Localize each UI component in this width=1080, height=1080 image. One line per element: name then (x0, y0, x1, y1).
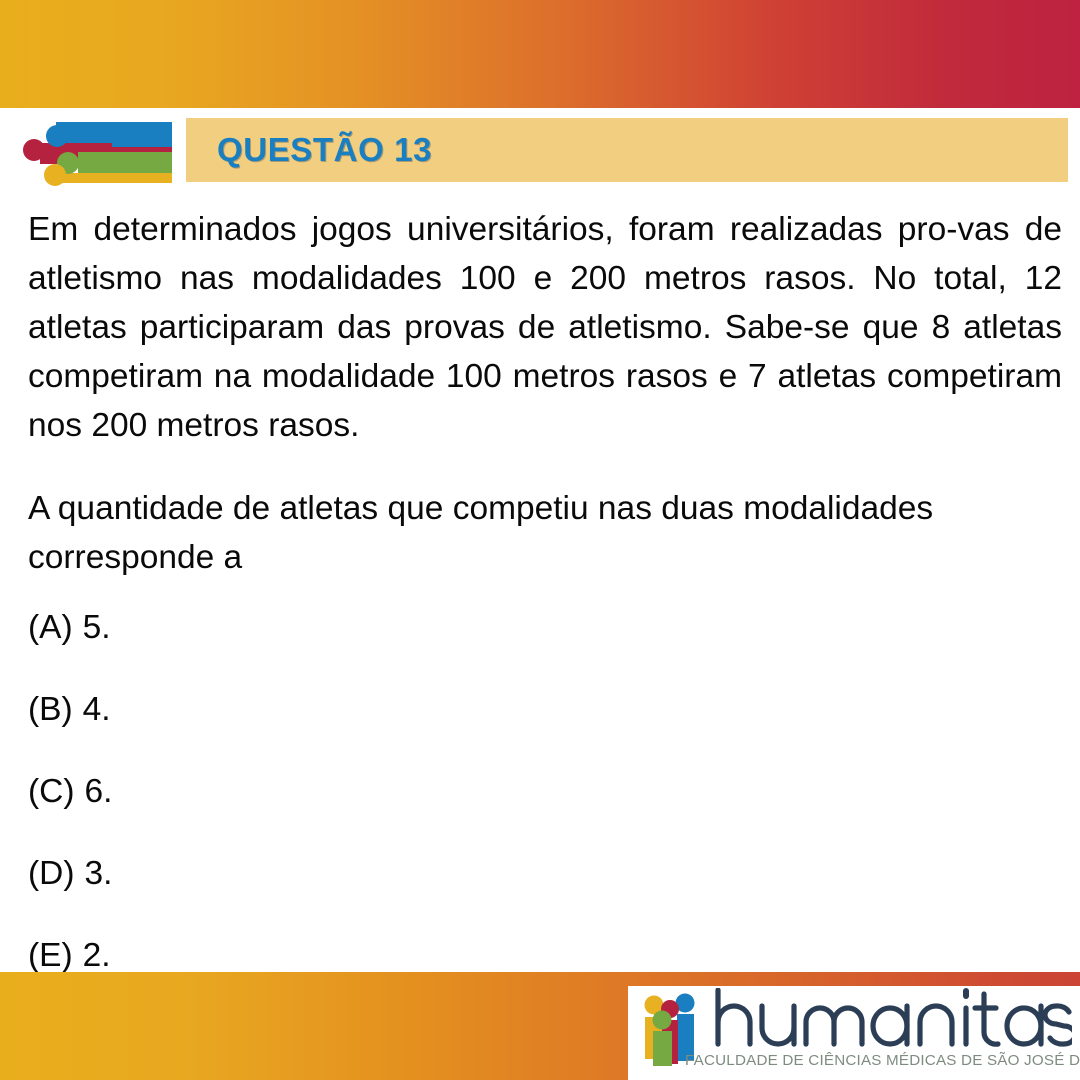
answer-option-e-letter: (E) (28, 937, 73, 974)
answer-option-d-value: 3. (85, 855, 113, 892)
answer-option-b-letter: (B) (28, 691, 73, 728)
answer-option-d-letter: (D) (28, 855, 75, 892)
answer-option-a-value: 5. (83, 609, 111, 646)
answer-option-c-letter: (C) (28, 773, 75, 810)
humanitas-tagline: FACULDADE DE CIÊNCIAS MÉDICAS DE SÃO JOS… (685, 1052, 1080, 1069)
answer-option-b[interactable]: (B)4. (28, 690, 1062, 730)
answer-option-b-value: 4. (83, 691, 111, 728)
answer-option-c[interactable]: (C)6. (28, 772, 1062, 812)
humanitas-wordmark (712, 988, 1072, 1050)
footer-logo-container: FACULDADE DE CIÊNCIAS MÉDICAS DE SÃO JOS… (628, 986, 1080, 1080)
header-gradient-band (0, 0, 1080, 108)
question-header: QUESTÃO 13 (0, 118, 1080, 186)
question-number-label: QUESTÃO 13 (217, 131, 432, 169)
footer-gradient-band: FACULDADE DE CIÊNCIAS MÉDICAS DE SÃO JOS… (0, 972, 1080, 1080)
answer-option-e[interactable]: (E)2. (28, 936, 1062, 976)
answer-option-e-value: 2. (83, 937, 111, 974)
question-banner: QUESTÃO 13 (186, 118, 1068, 182)
answer-option-d[interactable]: (D)3. (28, 854, 1062, 894)
answer-options-list: (A)5. (B)4. (C)6. (D)3. (E)2. (28, 608, 1062, 976)
question-content: Em determinados jogos universitários, fo… (28, 205, 1062, 1018)
answer-option-a-letter: (A) (28, 609, 73, 646)
question-statement-paragraph: Em determinados jogos universitários, fo… (28, 205, 1062, 450)
institution-mark-icon (20, 118, 180, 186)
answer-option-a[interactable]: (A)5. (28, 608, 1062, 648)
question-prompt-paragraph: A quantidade de atletas que competiu nas… (28, 484, 1062, 582)
answer-option-c-value: 6. (85, 773, 113, 810)
